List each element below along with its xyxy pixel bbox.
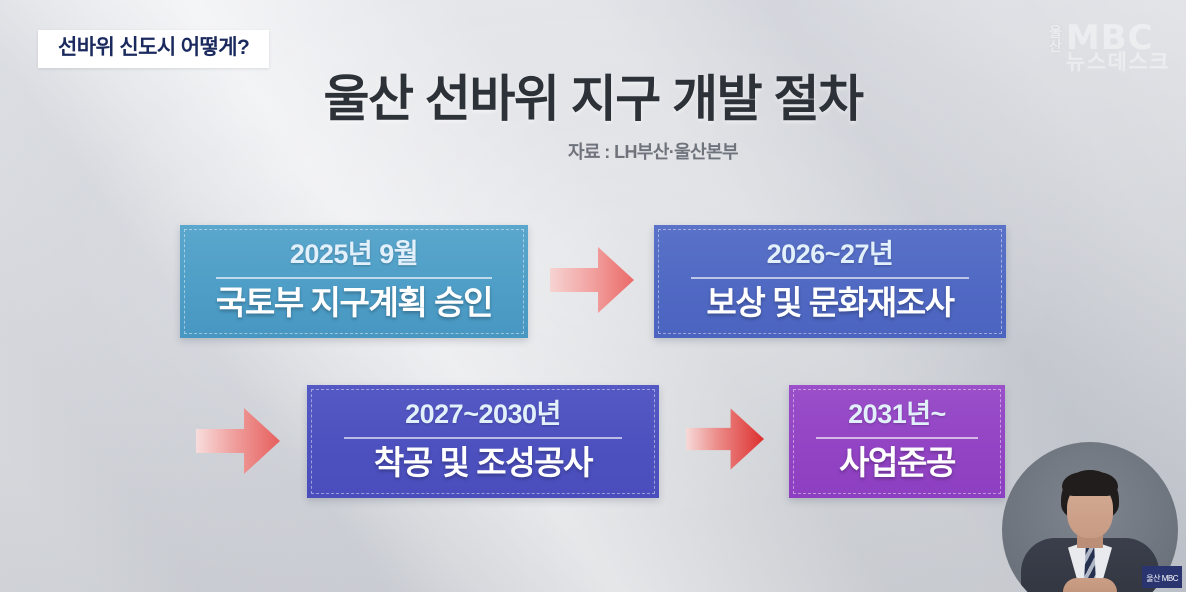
broadcast-screen: 선바위 신도시 어떻게? 울 산 MBC 뉴스데스크 울산 선바위 지구 개발 … <box>0 0 1186 592</box>
flow-step-2: 2026~27년 보상 및 문화재조사 <box>654 225 1006 338</box>
station-logo-text: MBC 뉴스데스크 <box>1066 22 1170 73</box>
flow-arrow-right-icon <box>686 404 764 474</box>
flow-step-4-divider <box>816 437 978 439</box>
reporter-badge: 울산 MBC <box>1142 566 1182 588</box>
flow-step-2-label: 보상 및 문화재조사 <box>706 285 953 322</box>
headline-banner: 선바위 신도시 어떻게? <box>38 30 269 68</box>
flow-step-3: 2027~2030년 착공 및 조성공사 <box>307 385 659 498</box>
flow-step-1-divider <box>216 277 491 279</box>
flow-step-4: 2031년~ 사업준공 <box>789 385 1005 498</box>
flow-step-1-label: 국토부 지구계획 승인 <box>216 285 492 322</box>
flow-step-3-divider <box>344 437 623 439</box>
flow-step-1: 2025년 9월 국토부 지구계획 승인 <box>180 225 528 338</box>
flow-step-4-label: 사업준공 <box>839 445 955 482</box>
flow-step-2-period: 2026~27년 <box>767 239 894 269</box>
flow-step-2-divider <box>691 277 970 279</box>
station-logo: 울 산 MBC 뉴스데스크 <box>1049 22 1170 73</box>
title-block: 울산 선바위 지구 개발 절차 자료 : LH부산·울산본부 <box>0 72 1186 164</box>
flow-step-3-period: 2027~2030년 <box>405 399 561 429</box>
flow-step-1-period: 2025년 9월 <box>290 239 418 269</box>
source-credit: 자료 : LH부산·울산본부 <box>0 138 1186 164</box>
flow-step-3-label: 착공 및 조성공사 <box>374 445 592 482</box>
program-name: 뉴스데스크 <box>1066 52 1170 73</box>
station-region-line2: 산 <box>1049 39 1061 53</box>
station-region: 울 산 <box>1049 22 1061 54</box>
flow-arrow-right-icon <box>196 404 280 478</box>
flow-arrow-right-icon <box>550 243 634 317</box>
reporter-hair-front <box>1062 472 1118 496</box>
reporter-badge-text: 울산 MBC <box>1146 574 1178 583</box>
station-network-name: MBC <box>1066 22 1170 54</box>
flow-step-4-period: 2031년~ <box>848 399 946 429</box>
reporter-hands <box>1063 578 1117 592</box>
headline-banner-text: 선바위 신도시 어떻게? <box>58 37 249 59</box>
page-title: 울산 선바위 지구 개발 절차 <box>0 72 1186 126</box>
